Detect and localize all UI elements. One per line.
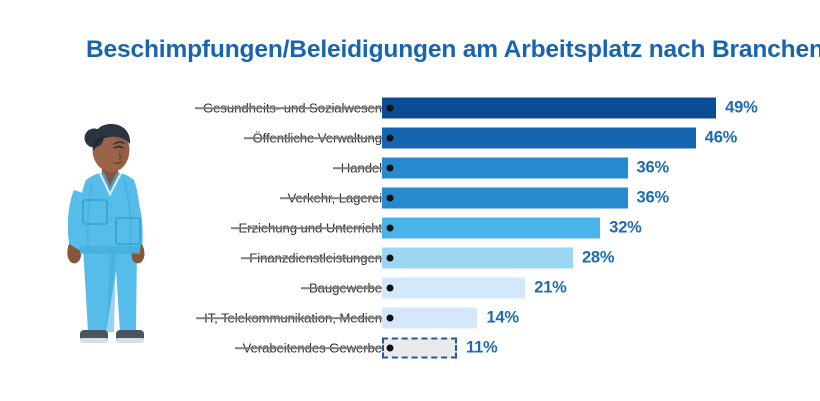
connector-dot (387, 105, 394, 112)
bar-value-label: 36% (637, 159, 669, 178)
bar-chart-plot: Gesundheits- und Sozialwesen49%Öffentlic… (0, 88, 820, 368)
connector-dot (387, 225, 394, 232)
bar-value-label: 11% (466, 339, 498, 358)
bar (382, 218, 600, 239)
bar (382, 278, 525, 299)
leader-line (301, 287, 390, 289)
bar-chart-row: Baugewerbe21% (0, 273, 820, 303)
leader-line (196, 317, 390, 319)
leader-line (195, 107, 390, 109)
bar-value-label: 49% (725, 99, 757, 118)
bar-chart-row: Öffentliche Verwaltung46% (0, 123, 820, 153)
bar-value-label: 46% (705, 129, 737, 148)
leader-line (280, 197, 390, 199)
connector-dot (387, 165, 394, 172)
bar-value-label: 36% (637, 189, 669, 208)
leader-line (241, 257, 390, 259)
bar-chart-row: IT, Telekommunikation, Medien14% (0, 303, 820, 333)
category-label-cell: Handel (0, 153, 382, 183)
bar-chart-row: Verabeitendes Gewerbe11% (0, 333, 820, 363)
leader-line (244, 137, 390, 139)
connector-dot (387, 315, 394, 322)
leader-line (235, 347, 390, 349)
bar-value-label: 14% (486, 309, 518, 328)
bar (382, 188, 628, 209)
connector-dot (387, 195, 394, 202)
bar-value-label: 28% (582, 249, 614, 268)
bar-value-label: 32% (609, 219, 641, 238)
page-title: Beschimpfungen/Beleidigungen am Arbeitsp… (86, 36, 806, 64)
connector-dot (387, 135, 394, 142)
bar (382, 308, 477, 329)
infographic-root: Beschimpfungen/Beleidigungen am Arbeitsp… (0, 0, 820, 401)
leader-line (231, 227, 390, 229)
connector-dot (387, 285, 394, 292)
bar (382, 248, 573, 269)
bar-chart-row: Gesundheits- und Sozialwesen49% (0, 93, 820, 123)
bar-chart-row: Finanzdienstleistungen28% (0, 243, 820, 273)
bar (382, 98, 716, 119)
bar (382, 128, 696, 149)
bar-chart-row: Handel36% (0, 153, 820, 183)
connector-dot (387, 255, 394, 262)
bar-chart-row: Erziehung und Unterricht32% (0, 213, 820, 243)
bar-chart-row: Verkehr, Lagerei36% (0, 183, 820, 213)
bar (382, 158, 628, 179)
connector-dot (387, 345, 394, 352)
bar-value-label: 21% (534, 279, 566, 298)
